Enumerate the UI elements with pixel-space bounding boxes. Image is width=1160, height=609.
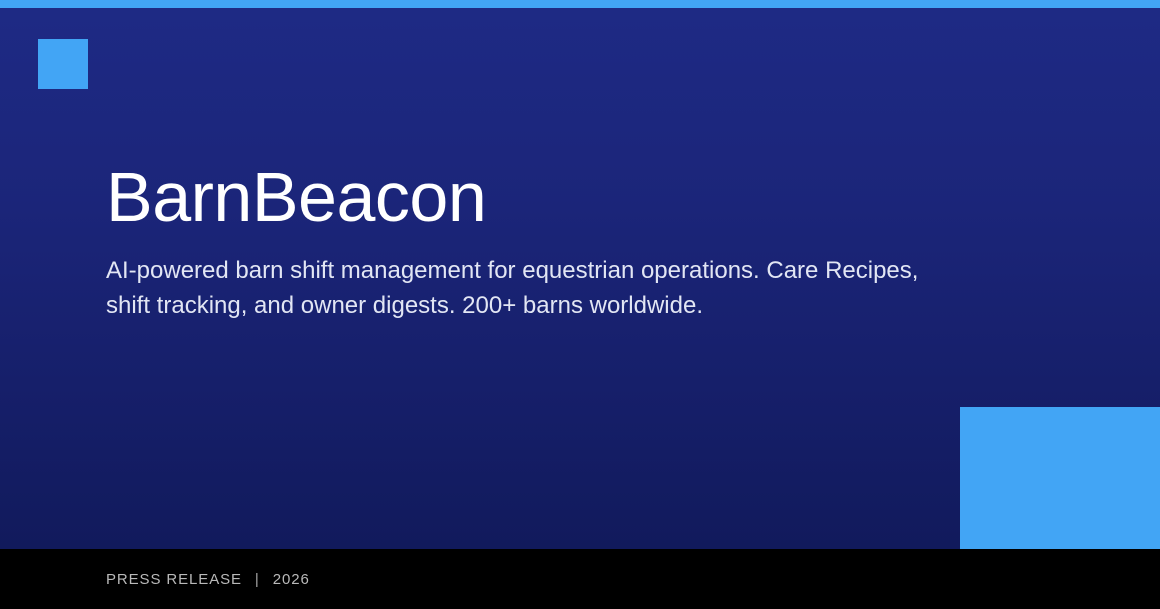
footer-year: 2026 bbox=[273, 571, 310, 588]
solid-square-logo-icon bbox=[38, 39, 88, 89]
footer-separator: | bbox=[255, 571, 260, 588]
slide-footer: PRESS RELEASE | 2026 bbox=[0, 549, 1160, 609]
title-block: BarnBeacon AI-powered barn shift managem… bbox=[106, 155, 986, 323]
document-type-label: PRESS RELEASE bbox=[106, 571, 242, 588]
title-slide: BarnBeacon AI-powered barn shift managem… bbox=[0, 0, 1160, 609]
page-subtitle: AI-powered barn shift management for equ… bbox=[106, 253, 936, 323]
top-accent-bar bbox=[0, 0, 1160, 8]
corner-accent-block bbox=[960, 407, 1160, 549]
footer-meta: PRESS RELEASE | 2026 bbox=[106, 549, 310, 609]
page-title: BarnBeacon bbox=[106, 155, 986, 239]
